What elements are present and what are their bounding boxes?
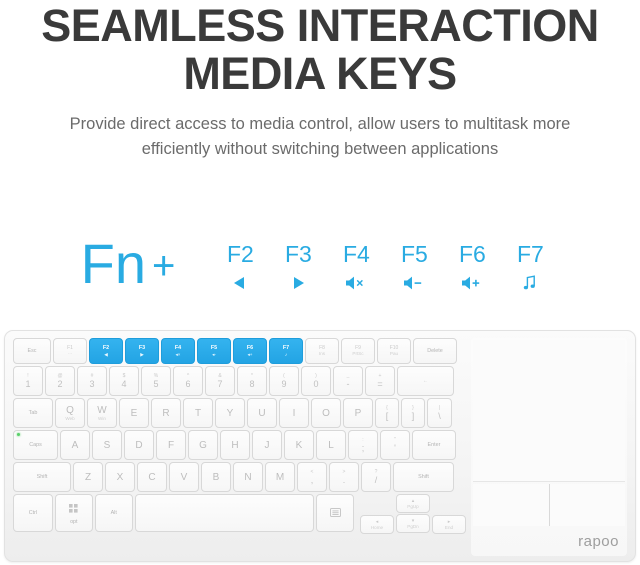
fn-key-list: F2 F3 F4 [211,241,559,296]
trackpad-right-button[interactable] [550,484,626,526]
key-minus[interactable]: _- [333,366,363,396]
key-f8[interactable]: F8Ins [305,338,339,364]
key-p[interactable]: P [343,398,373,428]
key-x[interactable]: X [105,462,135,492]
volume-mute-icon [327,270,385,296]
keyboard-row-home: Caps A S D F G H J K L :; "' Enter [13,430,468,460]
music-note-icon [501,270,559,296]
key-f1[interactable]: F1··· [53,338,87,364]
key-4[interactable]: $4 [109,366,139,396]
key-tab[interactable]: Tab [13,398,53,428]
capslock-led-indicator [17,433,20,436]
arrow-key-cluster: ◂ Home ▴ PgUp ▾ PgDn ▸ [360,494,468,534]
windows-grid-icon [69,500,78,518]
key-f10[interactable]: F10Pau [377,338,411,364]
keyboard-row-shift: Shift Z X C V B N M <, >. ?/ Shift [13,462,468,492]
key-v[interactable]: V [169,462,199,492]
key-0[interactable]: )0 [301,366,331,396]
keyboard-key-area: Esc F1··· F2◀ F3▶ F4◂× F5◂- F6◂+ F7♪ F8I… [13,338,468,556]
key-5[interactable]: %5 [141,366,171,396]
arrow-updown-stack: ▴ PgUp ▾ PgDn [396,494,430,534]
key-space[interactable] [135,494,314,532]
page-subtitle-line-1: Provide direct access to media control, … [20,112,620,137]
key-9[interactable]: (9 [269,366,299,396]
key-n[interactable]: N [233,462,263,492]
page-title-line-2: MEDIA KEYS [0,50,640,98]
key-o[interactable]: O [311,398,341,428]
fn-key-f2: F2 [211,241,269,296]
fn-key-f6: F6 [443,241,501,296]
key-option[interactable]: opt [55,494,93,532]
fn-key-f7-label: F7 [501,241,559,267]
key-j[interactable]: J [252,430,282,460]
key-1[interactable]: !1 [13,366,43,396]
key-2[interactable]: @2 [45,366,75,396]
key-menu[interactable] [316,494,354,532]
key-d[interactable]: D [124,430,154,460]
promo-page: SEAMLESS INTERACTION MEDIA KEYS Provide … [0,0,640,565]
page-title-line-1: SEAMLESS INTERACTION [41,0,599,51]
key-enter[interactable]: Enter [412,430,456,460]
key-delete[interactable]: Delete [413,338,457,364]
fn-key-f7: F7 [501,241,559,296]
key-arrow-left[interactable]: ◂ Home [360,515,394,534]
key-f4[interactable]: F4◂× [161,338,195,364]
key-comma[interactable]: <, [297,462,327,492]
key-l[interactable]: L [316,430,346,460]
previous-track-icon [211,270,269,296]
key-u[interactable]: U [247,398,277,428]
key-k[interactable]: K [284,430,314,460]
key-esc[interactable]: Esc [13,338,51,364]
play-icon [269,270,327,296]
fn-key-f5-label: F5 [385,241,443,267]
key-e[interactable]: E [119,398,149,428]
headline-block: SEAMLESS INTERACTION MEDIA KEYS Provide … [0,0,640,162]
fn-modifier-label: Fn [81,236,146,292]
key-backslash[interactable]: |\ [427,398,452,428]
key-shift-right[interactable]: Shift [393,462,454,492]
key-period[interactable]: >. [329,462,359,492]
fn-key-f5: F5 [385,241,443,296]
trackpad-left-button[interactable] [473,484,550,526]
page-title: SEAMLESS INTERACTION MEDIA KEYS [0,2,640,98]
key-b[interactable]: B [201,462,231,492]
key-quote[interactable]: "' [380,430,410,460]
key-capslock[interactable]: Caps [13,430,58,460]
fn-key-f4: F4 [327,241,385,296]
trackpad-surface[interactable] [473,340,625,482]
page-subtitle: Provide direct access to media control, … [20,112,620,162]
key-y[interactable]: Y [215,398,245,428]
fn-key-f6-label: F6 [443,241,501,267]
brand-logo: rapoo [578,533,619,550]
volume-up-icon [443,270,501,296]
keyboard-row-function: Esc F1··· F2◀ F3▶ F4◂× F5◂- F6◂+ F7♪ F8I… [13,338,468,364]
key-ctrl[interactable]: Ctrl [13,494,53,532]
key-r[interactable]: R [151,398,181,428]
key-6[interactable]: ^6 [173,366,203,396]
page-subtitle-line-2: efficiently without switching between ap… [20,137,620,162]
keyboard-row-numbers: !1 @2 #3 $4 %5 ^6 &7 *8 (9 )0 _- += ← [13,366,468,396]
key-shift-left[interactable]: Shift [13,462,71,492]
key-m[interactable]: M [265,462,295,492]
backspace-icon: ← [423,378,428,384]
fn-key-f3-label: F3 [269,241,327,267]
fn-key-f4-label: F4 [327,241,385,267]
keyboard: Esc F1··· F2◀ F3▶ F4◂× F5◂- F6◂+ F7♪ F8I… [4,330,636,562]
key-c[interactable]: C [137,462,167,492]
key-g[interactable]: G [188,430,218,460]
trackpad-buttons [473,484,625,526]
fn-key-f3: F3 [269,241,327,296]
key-semicolon[interactable]: :; [348,430,378,460]
volume-down-icon [385,270,443,296]
key-slash[interactable]: ?/ [361,462,391,492]
key-f7[interactable]: F7♪ [269,338,303,364]
key-arrow-down[interactable]: ▾ PgDn [396,514,430,533]
key-bracket-right[interactable]: }] [401,398,425,428]
fn-shortcut-legend: Fn + F2 F3 F4 [0,196,640,296]
fn-plus-sign: + [152,246,175,286]
key-f6[interactable]: F6◂+ [233,338,267,364]
fn-key-f2-label: F2 [211,241,269,267]
key-z[interactable]: Z [73,462,103,492]
key-s[interactable]: S [92,430,122,460]
keyboard-row-bottom: Ctrl opt Alt ◂ [13,494,468,534]
key-w[interactable]: WWin [87,398,117,428]
key-f2[interactable]: F2◀ [89,338,123,364]
keyboard-row-qwerty: Tab QWeb WWin E R T Y U I O P {[ }] |\ [13,398,468,428]
key-f3[interactable]: F3▶ [125,338,159,364]
key-f9[interactable]: F9PrtSc [341,338,375,364]
key-t[interactable]: T [183,398,213,428]
key-f5[interactable]: F5◂- [197,338,231,364]
trackpad[interactable]: rapoo [471,338,627,556]
key-q[interactable]: QWeb [55,398,85,428]
key-bracket-left[interactable]: {[ [375,398,399,428]
key-7[interactable]: &7 [205,366,235,396]
key-i[interactable]: I [279,398,309,428]
key-backspace[interactable]: ← [397,366,454,396]
key-h[interactable]: H [220,430,250,460]
key-arrow-up[interactable]: ▴ PgUp [396,494,430,513]
key-alt[interactable]: Alt [95,494,133,532]
key-a[interactable]: A [60,430,90,460]
key-3[interactable]: #3 [77,366,107,396]
key-f[interactable]: F [156,430,186,460]
key-arrow-right[interactable]: ▸ End [432,515,466,534]
menu-icon [330,504,341,522]
key-equals[interactable]: += [365,366,395,396]
key-8[interactable]: *8 [237,366,267,396]
